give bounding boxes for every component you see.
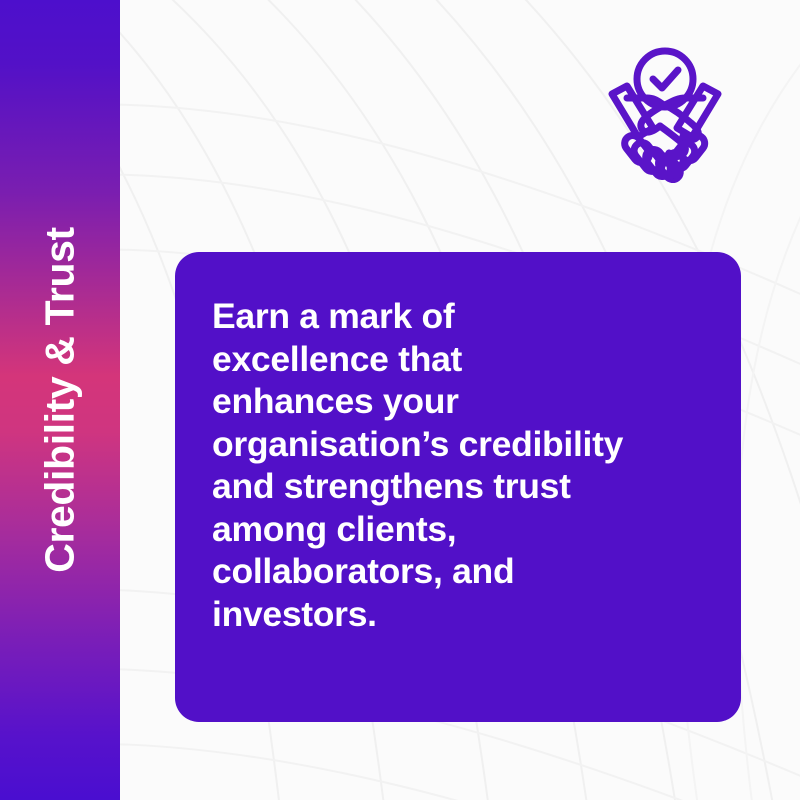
handshake-verified-svg <box>585 42 745 192</box>
slide-root: Credibility & Trust <box>0 0 800 800</box>
check-mark-icon <box>653 70 678 88</box>
statement-card: Earn a mark of excellence that enhances … <box>175 252 741 722</box>
side-rail-label: Credibility & Trust <box>37 227 84 573</box>
statement-card-text: Earn a mark of excellence that enhances … <box>212 295 712 635</box>
side-rail: Credibility & Trust <box>0 0 120 800</box>
handshake-verified-icon <box>585 42 745 192</box>
